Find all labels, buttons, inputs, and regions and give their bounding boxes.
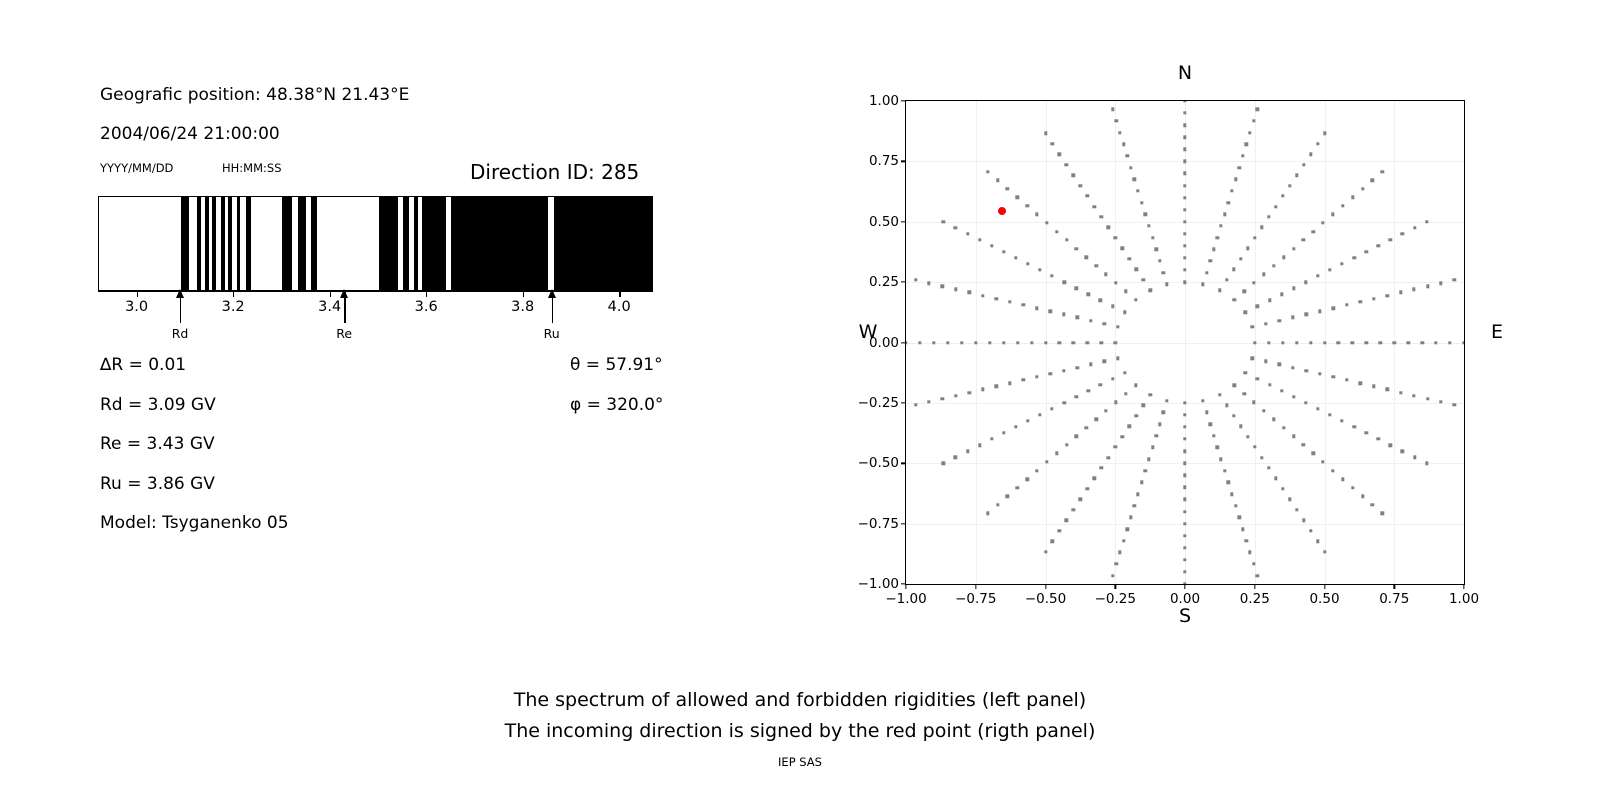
direction-point [1095, 418, 1098, 421]
direction-point [1183, 244, 1186, 247]
x-axis-tick-label: 3.4 [318, 299, 341, 315]
direction-point [1205, 411, 1208, 414]
footer-credit: IEP SAS [0, 755, 1600, 769]
direction-point [966, 449, 969, 452]
direction-point [1141, 278, 1144, 281]
direction-point [1065, 519, 1068, 522]
direction-point [1151, 446, 1154, 449]
x-tick-mark [1115, 584, 1116, 589]
direction-point [1352, 425, 1355, 428]
direction-point [1006, 187, 1009, 190]
direction-point [1219, 224, 1222, 227]
direction-point [1016, 341, 1019, 344]
direction-point [1401, 449, 1404, 452]
direction-point [1292, 247, 1295, 250]
direction-point [1223, 212, 1226, 215]
forbidden-band [246, 197, 252, 290]
y-tick-label: −0.75 [858, 516, 899, 532]
x-tick-mark [905, 584, 906, 589]
direction-point [1412, 288, 1415, 291]
direction-point [1227, 201, 1230, 204]
direction-point [1328, 413, 1331, 416]
direction-point [1232, 268, 1235, 271]
y-tick-mark [901, 100, 906, 101]
caption-line-1: The spectrum of allowed and forbidden ri… [0, 685, 1600, 716]
direction-point [1252, 119, 1255, 122]
direction-point [1248, 131, 1251, 134]
direction-point [1462, 341, 1464, 344]
forbidden-band [181, 197, 189, 290]
direction-point [1256, 377, 1259, 380]
direction-point [1256, 574, 1259, 577]
x-tick-label: 0.25 [1240, 591, 1270, 607]
x-tick-mark [1184, 584, 1185, 589]
direction-point [1089, 319, 1092, 322]
direction-point [1351, 341, 1354, 344]
direction-point [1162, 411, 1165, 414]
direction-point [1223, 469, 1226, 472]
datetime-label: 2004/06/24 21:00:00 [100, 124, 280, 144]
direction-point [1087, 292, 1090, 295]
phi-value: φ = 320.0° [570, 395, 663, 415]
direction-point [1095, 264, 1098, 267]
direction-point [1323, 550, 1326, 553]
direction-point [996, 503, 999, 506]
direction-point [1453, 403, 1456, 406]
direction-point [1295, 341, 1298, 344]
direction-point [1183, 268, 1186, 271]
direction-point [1341, 477, 1344, 480]
direction-point [1104, 409, 1107, 412]
direction-point [1183, 172, 1186, 175]
direction-point [1241, 527, 1244, 530]
direction-point [1232, 414, 1235, 417]
direction-point [954, 394, 957, 397]
direction-point [1323, 132, 1326, 135]
direction-point [1272, 264, 1275, 267]
direction-point [1453, 278, 1456, 281]
direction-point [1100, 466, 1103, 469]
direction-point [988, 341, 991, 344]
direction-point [1288, 184, 1291, 187]
y-tick-label: 0.25 [869, 274, 899, 290]
direction-point [1183, 462, 1186, 465]
direction-point [1051, 539, 1054, 542]
direction-point [1158, 422, 1161, 425]
direction-point [1241, 154, 1244, 157]
x-axis-tick [523, 291, 524, 297]
forbidden-band [311, 197, 317, 290]
direction-point [1093, 205, 1096, 208]
direction-point [1264, 360, 1267, 363]
direction-point [1218, 289, 1221, 292]
forbidden-bands-container [99, 197, 652, 290]
marker-label: Re [336, 326, 352, 341]
direction-point [1282, 255, 1285, 258]
forbidden-band [197, 197, 200, 290]
direction-point [1102, 322, 1105, 325]
direction-point [1321, 460, 1324, 463]
direction-point [1129, 166, 1132, 169]
x-axis-tick-label: 3.8 [511, 299, 534, 315]
direction-point [1328, 268, 1331, 271]
rigidity-x-axis: 3.03.23.43.63.84.0RdReRu [98, 291, 653, 292]
y-tick-mark [901, 402, 906, 403]
y-tick-label: 1.00 [869, 93, 899, 109]
direction-point [1075, 316, 1078, 319]
direction-point [1239, 257, 1242, 260]
direction-point [1099, 299, 1102, 302]
direction-point [1406, 341, 1409, 344]
delta-r-value: ∆R = 0.01 [100, 355, 186, 375]
direction-point [1035, 306, 1038, 309]
direction-point [1225, 278, 1228, 281]
direction-point [1126, 154, 1129, 157]
direction-point [1100, 341, 1103, 344]
direction-point [942, 220, 945, 223]
direction-point [1292, 395, 1295, 398]
direction-point [1225, 404, 1228, 407]
direction-point [1291, 316, 1294, 319]
direction-point [1312, 230, 1315, 233]
direction-point [1183, 280, 1186, 283]
direction-point [1062, 313, 1065, 316]
direction-point [1295, 173, 1298, 176]
direction-point [1389, 238, 1392, 241]
direction-point [1253, 236, 1256, 239]
direction-point [1256, 108, 1259, 111]
direction-point [1295, 508, 1298, 511]
direction-point [1002, 431, 1005, 434]
direction-point [966, 232, 969, 235]
forbidden-band [282, 197, 292, 290]
direction-point [1183, 111, 1186, 114]
direction-point [1183, 425, 1186, 428]
forbidden-band [403, 197, 409, 290]
direction-point [1351, 486, 1354, 489]
direction-point [1050, 274, 1053, 277]
asymptotic-direction-panel: N S W E −1.00−0.75−0.50−0.250.000.250.50… [800, 40, 1560, 660]
direction-point [954, 456, 957, 459]
direction-point [1274, 477, 1277, 480]
x-tick-label: −1.00 [885, 591, 926, 607]
marker-label: Rd [172, 326, 189, 341]
direction-point [1044, 132, 1047, 135]
x-tick-label: 0.50 [1309, 591, 1339, 607]
direction-point [1075, 395, 1078, 398]
direction-point [1205, 271, 1208, 274]
scatter-plot-area [906, 101, 1464, 584]
caption-line-2: The incoming direction is signed by the … [0, 716, 1600, 747]
forbidden-band [554, 197, 652, 290]
direction-point [1099, 383, 1102, 386]
direction-point [1118, 131, 1121, 134]
direction-point [1134, 383, 1137, 386]
direction-point [1183, 232, 1186, 235]
direction-point [1316, 539, 1319, 542]
compass-north-label: N [1178, 62, 1192, 84]
direction-point [1242, 392, 1245, 395]
rigidity-spectrum-chart [98, 196, 653, 291]
direction-point [1305, 369, 1308, 372]
direction-point [1085, 255, 1088, 258]
direction-point [1256, 305, 1259, 308]
direction-point [1253, 341, 1256, 344]
direction-point [1377, 244, 1380, 247]
marker-label: Ru [544, 326, 560, 341]
direction-point [1420, 341, 1423, 344]
direction-point [1237, 516, 1240, 519]
direction-point [932, 341, 935, 344]
direction-point [946, 341, 949, 344]
direction-point [990, 244, 993, 247]
direction-point [1183, 534, 1186, 537]
direction-point [1183, 101, 1186, 103]
direction-point [1272, 418, 1275, 421]
direction-point [1393, 341, 1396, 344]
direction-point [1377, 437, 1380, 440]
x-axis-tick-label: 3.6 [415, 299, 438, 315]
direction-point [1116, 356, 1119, 359]
direction-point [1102, 360, 1105, 363]
direction-point [1022, 378, 1025, 381]
direction-point [1340, 419, 1343, 422]
direction-point [995, 385, 998, 388]
arrow-up-icon [340, 289, 348, 298]
direction-point [1337, 341, 1340, 344]
x-tick-label: −0.75 [955, 591, 996, 607]
direction-point [1425, 462, 1428, 465]
direction-point [1332, 375, 1335, 378]
direction-point [1282, 426, 1285, 429]
direction-point [1230, 189, 1233, 192]
direction-point [1124, 290, 1127, 293]
direction-point [1072, 341, 1075, 344]
y-tick-label: 0.50 [869, 214, 899, 230]
direction-point [1058, 341, 1061, 344]
direction-point [974, 341, 977, 344]
direction-point [1062, 369, 1065, 372]
theta-value: θ = 57.91° [570, 355, 663, 375]
direction-point [1086, 194, 1089, 197]
direction-point [1114, 401, 1117, 404]
x-axis-tick-label: 3.2 [222, 299, 245, 315]
geographic-position-label: Geografic position: 48.38°N 21.43°E [100, 85, 409, 105]
direction-point [1425, 220, 1428, 223]
x-axis-tick [426, 291, 427, 297]
direction-point [1345, 303, 1348, 306]
direction-point [1358, 300, 1361, 303]
direction-point [1318, 372, 1321, 375]
direction-point [1183, 546, 1186, 549]
x-axis-tick-label: 3.0 [125, 299, 148, 315]
direction-point [1321, 221, 1324, 224]
x-tick-label: 0.00 [1170, 591, 1200, 607]
direction-point [1014, 425, 1017, 428]
direction-point [1085, 426, 1088, 429]
arrow-up-icon [176, 289, 184, 298]
direction-point [1260, 226, 1263, 229]
direction-point [1365, 341, 1368, 344]
direction-point [1372, 297, 1375, 300]
direction-point [1016, 486, 1019, 489]
direction-point [1183, 184, 1186, 187]
direction-point [1316, 142, 1319, 145]
model-value: Model: Tsyganenko 05 [100, 513, 289, 533]
direction-point [1251, 325, 1254, 328]
direction-point [968, 391, 971, 394]
direction-point [1183, 510, 1186, 513]
arrow-up-icon [548, 289, 556, 298]
re-value: Re = 3.43 GV [100, 434, 215, 454]
direction-point [1038, 413, 1041, 416]
direction-point [1401, 232, 1404, 235]
direction-point [1183, 196, 1186, 199]
forbidden-band [237, 197, 241, 290]
direction-point [1008, 300, 1011, 303]
direction-point [1448, 341, 1451, 344]
direction-point [1162, 271, 1165, 274]
direction-point [1218, 393, 1221, 396]
direction-point [1212, 247, 1215, 250]
direction-point [1100, 215, 1103, 218]
direction-point [1124, 392, 1127, 395]
direction-point [918, 341, 921, 344]
direction-point [1026, 419, 1029, 422]
direction-point [1183, 437, 1186, 440]
direction-point [1035, 469, 1038, 472]
direction-point [1260, 456, 1263, 459]
direction-point [978, 238, 981, 241]
x-axis-tick [619, 291, 620, 297]
direction-point [1309, 341, 1312, 344]
direction-point [1111, 305, 1114, 308]
direction-point [1123, 311, 1126, 314]
direction-point [1281, 194, 1284, 197]
direction-point [941, 285, 944, 288]
direction-point [1079, 498, 1082, 501]
direction-point [1183, 413, 1186, 416]
direction-point [1280, 389, 1283, 392]
direction-point [1093, 477, 1096, 480]
direction-point [1114, 341, 1117, 344]
direction-point [906, 341, 908, 344]
forbidden-band [212, 197, 216, 290]
direction-point [1035, 213, 1038, 216]
direction-point [914, 403, 917, 406]
direction-point [1372, 385, 1375, 388]
y-tick-label: −1.00 [858, 576, 899, 592]
direction-point [1302, 163, 1305, 166]
y-tick-mark [901, 161, 906, 162]
direction-point [1292, 435, 1295, 438]
direction-point [1439, 400, 1442, 403]
direction-point [1439, 281, 1442, 284]
direction-point [1141, 404, 1144, 407]
direction-point [1292, 286, 1295, 289]
direction-point [1280, 292, 1283, 295]
direction-point [1264, 322, 1267, 325]
direction-point [914, 278, 917, 281]
direction-point [1044, 550, 1047, 553]
direction-point [1134, 414, 1137, 417]
direction-point [968, 291, 971, 294]
direction-point [1104, 272, 1107, 275]
direction-point [1305, 313, 1308, 316]
direction-point [1262, 272, 1265, 275]
direction-point [1122, 143, 1125, 146]
direction-point [1129, 516, 1132, 519]
forbidden-band [221, 197, 225, 290]
direction-point [1055, 452, 1058, 455]
direction-point [1114, 445, 1117, 448]
direction-point [1246, 247, 1249, 250]
direction-point [1002, 250, 1005, 253]
direction-point [1278, 319, 1281, 322]
forbidden-band [205, 197, 209, 290]
direction-point [1165, 282, 1168, 285]
direction-point [1111, 377, 1114, 380]
direction-point [1134, 268, 1137, 271]
direction-point [1262, 409, 1265, 412]
direction-point [1075, 435, 1078, 438]
direction-point [1351, 196, 1354, 199]
direction-point [1035, 375, 1038, 378]
y-tick-label: 0.00 [869, 335, 899, 351]
direction-point [1072, 508, 1075, 511]
direction-point [1267, 341, 1270, 344]
direction-point [1140, 481, 1143, 484]
direction-point [1147, 224, 1150, 227]
direction-point [1385, 388, 1388, 391]
direction-point [1316, 274, 1319, 277]
direction-point [1151, 236, 1154, 239]
direction-point [1114, 281, 1117, 284]
forbidden-band [422, 197, 446, 290]
direction-point [1133, 504, 1136, 507]
direction-point [1055, 230, 1058, 233]
direction-point [1062, 401, 1065, 404]
x-axis-tick-label: 4.0 [608, 299, 631, 315]
direction-point [1183, 570, 1186, 573]
direction-point [941, 397, 944, 400]
direction-point [1230, 492, 1233, 495]
direction-point [986, 170, 989, 173]
ru-value: Ru = 3.86 GV [100, 474, 215, 494]
direction-point [1288, 498, 1291, 501]
direction-point [1107, 226, 1110, 229]
direction-point [1219, 457, 1222, 460]
direction-point [1154, 247, 1157, 250]
direction-point [1312, 452, 1315, 455]
direction-point [1049, 372, 1052, 375]
direction-point [1016, 196, 1019, 199]
direction-point [1252, 401, 1255, 404]
direction-point [1065, 238, 1068, 241]
direction-point [1340, 262, 1343, 265]
direction-point [1183, 474, 1186, 477]
direction-point [1183, 123, 1186, 126]
direction-point [1352, 256, 1355, 259]
direction-point [1371, 503, 1374, 506]
direction-point [1111, 574, 1114, 577]
y-tick-mark [901, 523, 906, 524]
x-tick-label: 0.75 [1379, 591, 1409, 607]
direction-point [1144, 212, 1147, 215]
direction-point [954, 226, 957, 229]
direction-point [1136, 189, 1139, 192]
direction-point [960, 341, 963, 344]
